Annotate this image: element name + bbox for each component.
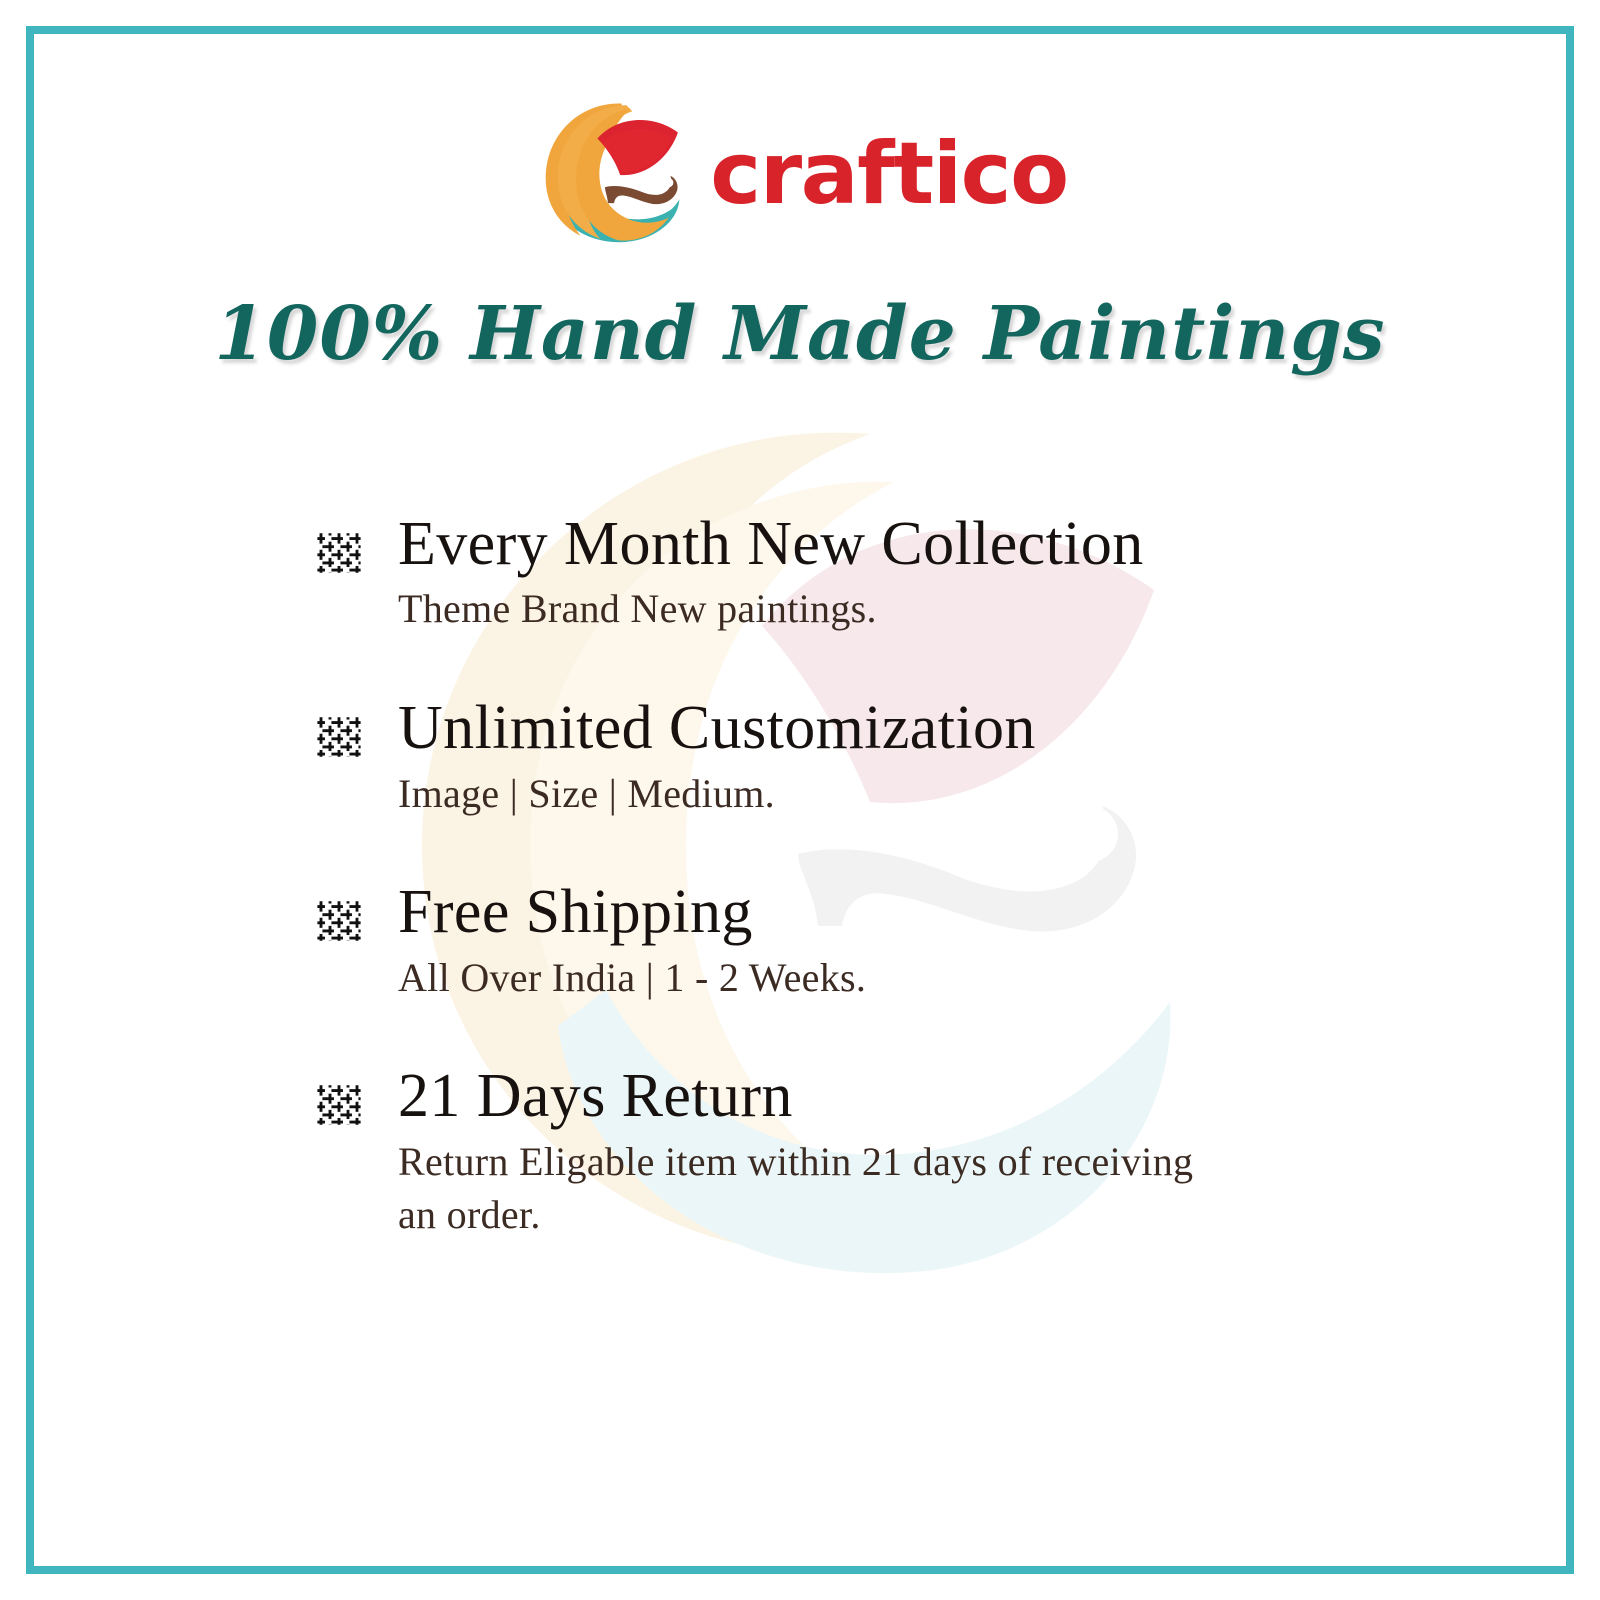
- feature-title: Every Month New Collection: [398, 512, 1492, 576]
- feature-subtitle: Image | Size | Medium.: [398, 767, 1198, 821]
- promo-poster: craftico 100% Hand Made Paintings: [0, 0, 1600, 1600]
- woven-texture-icon: [312, 1078, 366, 1132]
- feature-subtitle: Theme Brand New paintings.: [398, 582, 1198, 636]
- list-item: Every Month New Collection Theme Brand N…: [312, 512, 1492, 636]
- feature-text-block: 21 Days Return Return Eligable item with…: [398, 1064, 1492, 1242]
- craftico-logo-icon: [532, 96, 684, 248]
- feature-subtitle: Return Eligable item within 21 days of r…: [398, 1135, 1198, 1242]
- list-item: Free Shipping All Over India | 1 - 2 Wee…: [312, 880, 1492, 1004]
- woven-texture-icon: [312, 710, 366, 764]
- brand-logo-row: craftico: [0, 92, 1600, 252]
- woven-texture-icon: [312, 894, 366, 948]
- list-item: 21 Days Return Return Eligable item with…: [312, 1064, 1492, 1242]
- feature-subtitle: All Over India | 1 - 2 Weeks.: [398, 951, 1198, 1005]
- feature-text-block: Every Month New Collection Theme Brand N…: [398, 512, 1492, 636]
- feature-text-block: Unlimited Customization Image | Size | M…: [398, 696, 1492, 820]
- brand-wordmark: craftico: [710, 131, 1068, 217]
- feature-title: 21 Days Return: [398, 1064, 1492, 1128]
- page-title: 100% Hand Made Paintings: [0, 296, 1600, 374]
- feature-text-block: Free Shipping All Over India | 1 - 2 Wee…: [398, 880, 1492, 1004]
- list-item: Unlimited Customization Image | Size | M…: [312, 696, 1492, 820]
- woven-texture-icon: [312, 526, 366, 580]
- feature-list: Every Month New Collection Theme Brand N…: [312, 512, 1492, 1242]
- feature-title: Free Shipping: [398, 880, 1492, 944]
- feature-title: Unlimited Customization: [398, 696, 1492, 760]
